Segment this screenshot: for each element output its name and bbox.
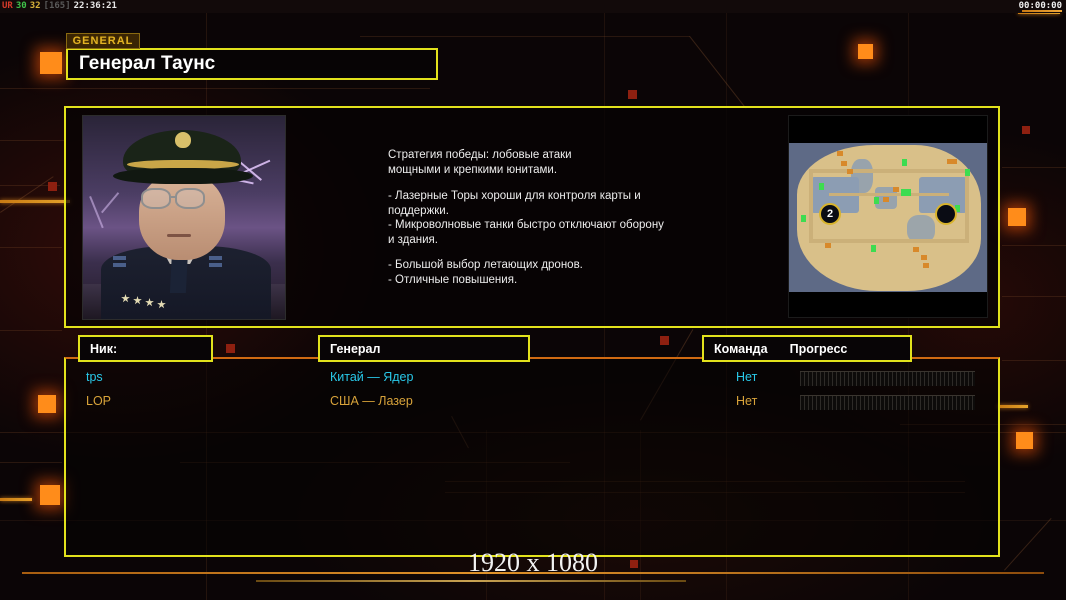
player-name: LOP — [86, 394, 111, 408]
description-bullet-3: - Большой выбор летающих дронов. — [388, 258, 718, 273]
portrait-cap-emblem — [175, 132, 191, 148]
column-header-general-label: Генерал — [330, 342, 380, 356]
minimap[interactable]: 2 — [788, 115, 988, 318]
decor-dim-square — [226, 344, 235, 353]
decor-glow-square — [1016, 432, 1033, 449]
column-header-progress-label: Прогресс — [790, 342, 848, 356]
status-bar-text: UR3032[165]22:36:21 — [2, 1, 120, 11]
table-row[interactable]: LOP США — Лазер Нет — [66, 391, 1002, 415]
minimap-start-label: 2 — [827, 208, 833, 220]
status-tag: UR — [2, 1, 13, 11]
resolution-label: 1920 x 1080 — [0, 548, 1066, 578]
page-title: Генерал Таунс — [79, 53, 215, 75]
decor-dim-square — [660, 336, 669, 345]
column-header-nick-label: Ник: — [90, 342, 117, 356]
tab-general-label: GENERAL — [73, 35, 134, 47]
description-bullet-1a: - Лазерные Торы хороши для контроля карт… — [388, 189, 718, 204]
description-bullet-2b: и здания. — [388, 233, 718, 248]
decor-dim-square — [628, 90, 637, 99]
player-general: Китай — Ядер — [330, 370, 413, 384]
description-intro-line-1: Стратегия победы: лобовые атаки — [388, 148, 718, 163]
table-row[interactable]: tps Китай — Ядер Нет — [66, 367, 1002, 391]
portrait-glasses-right — [175, 188, 205, 209]
tab-general[interactable]: GENERAL — [66, 33, 140, 49]
decor-glow-square — [38, 395, 56, 413]
general-info-panel: Стратегия победы: лобовые атаки мощными … — [64, 106, 1000, 328]
status-bar: UR3032[165]22:36:21 00:00:00 — [0, 0, 1066, 13]
player-name: tps — [86, 370, 103, 384]
description-intro-line-2: мощными и крепкими юнитами. — [388, 163, 718, 178]
status-clock: 22:36:21 — [74, 1, 117, 11]
footer-rule-secondary — [256, 580, 686, 582]
player-team: Нет — [736, 394, 757, 408]
decor-glow-square — [1008, 208, 1026, 226]
player-list-panel: tps Китай — Ядер Нет LOP США — Лазер Нет — [64, 357, 1000, 557]
minimap-start-position-2[interactable] — [935, 203, 957, 225]
player-team: Нет — [736, 370, 757, 384]
general-title-box: Генерал Таунс — [66, 48, 438, 80]
decor-glow-square — [40, 485, 60, 505]
status-value-1: 30 — [16, 1, 27, 11]
decor-dim-square — [48, 182, 57, 191]
decor-glow-square — [40, 52, 62, 74]
general-portrait — [82, 115, 286, 320]
status-bracket: [165] — [44, 1, 71, 11]
column-header-team-progress: Команда Прогресс — [702, 335, 912, 362]
status-value-2: 32 — [30, 1, 41, 11]
status-bar-accent — [1022, 10, 1062, 12]
column-header-general: Генерал — [318, 335, 530, 362]
column-header-team-label: Команда — [714, 342, 768, 356]
portrait-face — [139, 174, 225, 260]
general-description: Стратегия победы: лобовые атаки мощными … — [388, 148, 718, 287]
portrait-glasses-left — [141, 188, 171, 209]
player-progress-bar — [800, 371, 975, 386]
description-bullet-2a: - Микроволновые танки быстро отключают о… — [388, 218, 718, 233]
player-progress-bar — [800, 395, 975, 410]
player-general: США — Лазер — [330, 394, 413, 408]
minimap-start-position[interactable]: 2 — [819, 203, 841, 225]
decor-dim-square — [1022, 126, 1030, 134]
description-bullet-4: - Отличные повышения. — [388, 273, 718, 288]
column-header-nick: Ник: — [78, 335, 213, 362]
decor-glow-square — [858, 44, 873, 59]
description-bullet-1b: поддержки. — [388, 204, 718, 219]
game-screen: UR3032[165]22:36:21 00:00:00 GENERAL Ген… — [0, 0, 1066, 600]
